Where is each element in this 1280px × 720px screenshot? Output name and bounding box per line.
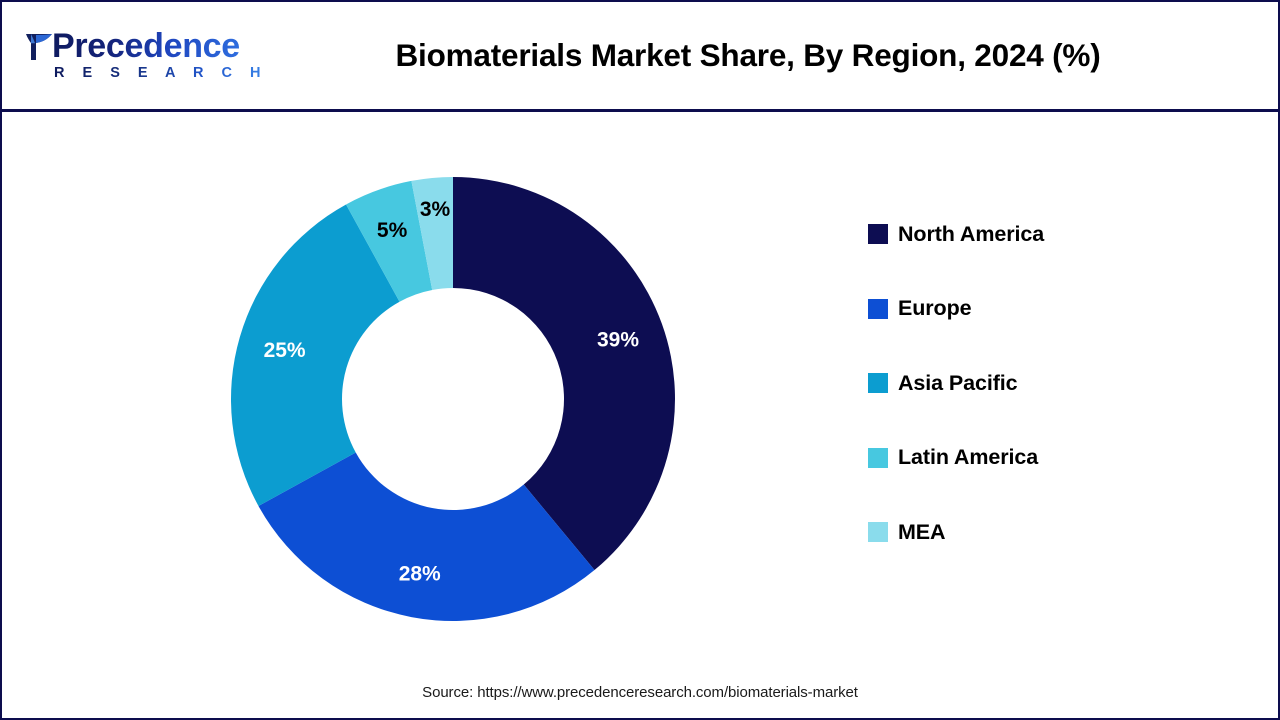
precedence-research-logo: Precedence R E S E A R C H <box>20 28 225 86</box>
chart-legend: North America Europe Asia Pacific Latin … <box>868 224 1208 597</box>
page-header: Precedence R E S E A R C H Biomaterials … <box>2 2 1278 112</box>
donut-slices <box>231 177 675 621</box>
slice-value-north-america: 39% <box>597 329 639 352</box>
chart-page: Precedence R E S E A R C H Biomaterials … <box>0 0 1280 720</box>
legend-item-europe[interactable]: Europe <box>868 299 1208 319</box>
source-caption: Source: https://www.precedenceresearch.c… <box>2 684 1278 701</box>
slice-value-mea: 3% <box>420 198 451 221</box>
legend-swatch-asia-pacific <box>868 373 888 393</box>
donut-chart-svg: 39%28%25%5%3% <box>228 174 678 624</box>
legend-swatch-europe <box>868 299 888 319</box>
slice-value-asia-pacific: 25% <box>264 339 306 362</box>
slice-value-europe: 28% <box>399 562 441 585</box>
page-title: Biomaterials Market Share, By Region, 20… <box>252 2 1262 109</box>
slice-value-latin-america: 5% <box>377 219 408 242</box>
legend-swatch-north-america <box>868 224 888 244</box>
donut-chart: 39%28%25%5%3% <box>228 174 678 624</box>
legend-item-latin-america[interactable]: Latin America <box>868 448 1208 468</box>
legend-item-north-america[interactable]: North America <box>868 224 1208 244</box>
legend-label-mea: MEA <box>898 520 945 545</box>
legend-label-europe: Europe <box>898 296 971 321</box>
logo-subtitle: R E S E A R C H <box>54 65 268 81</box>
chart-body: 39%28%25%5%3% North America Europe Asia … <box>2 112 1278 719</box>
legend-item-mea[interactable]: MEA <box>868 522 1208 542</box>
legend-label-latin-america: Latin America <box>898 445 1038 470</box>
legend-label-north-america: North America <box>898 222 1044 247</box>
logo-wordmark: Precedence <box>52 28 240 64</box>
legend-swatch-mea <box>868 522 888 542</box>
legend-item-asia-pacific[interactable]: Asia Pacific <box>868 373 1208 393</box>
legend-swatch-latin-america <box>868 448 888 468</box>
legend-label-asia-pacific: Asia Pacific <box>898 371 1018 396</box>
